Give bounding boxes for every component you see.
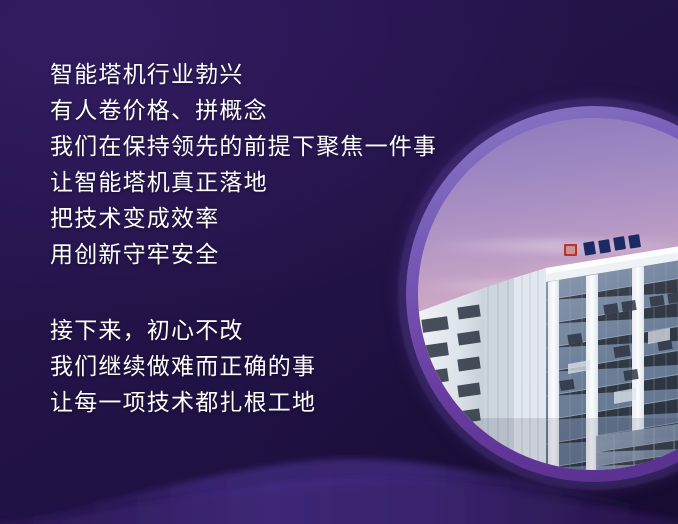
headline-line: 把技术变成效率 [50,200,437,236]
headline-line: 让每一项技术都扎根工地 [50,384,316,420]
slide-canvas: 智能塔机行业勃兴 有人卷价格、拼概念 我们在保持领先的前提下聚焦一件事 让智能塔… [0,0,678,524]
headline-block-primary: 智能塔机行业勃兴 有人卷价格、拼概念 我们在保持领先的前提下聚焦一件事 让智能塔… [50,56,437,272]
headline-line: 有人卷价格、拼概念 [50,92,437,128]
headline-line: 让智能塔机真正落地 [50,164,437,200]
headline-line: 我们在保持领先的前提下聚焦一件事 [50,128,437,164]
headline-line: 智能塔机行业勃兴 [50,56,437,92]
headline-line: 接下来，初心不改 [50,312,316,348]
headline-line: 用创新守牢安全 [50,236,437,272]
headline-line: 我们继续做难而正确的事 [50,348,316,384]
headline-block-secondary: 接下来，初心不改 我们继续做难而正确的事 让每一项技术都扎根工地 [50,312,316,420]
